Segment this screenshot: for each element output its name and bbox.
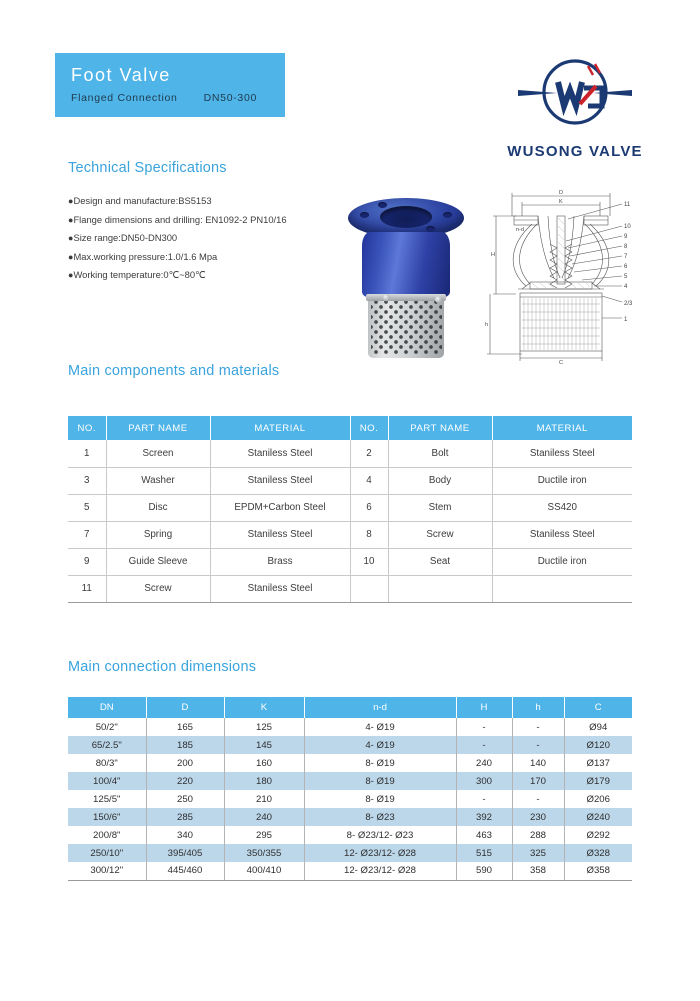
dim-label-h: h: [485, 322, 488, 328]
table-row: 1 Screen Staniless Steel 2 Bolt Staniles…: [68, 440, 632, 467]
cell-k: 400/410: [224, 862, 304, 880]
cell-d: 395/405: [146, 844, 224, 862]
cell-material-2: Staniless Steel: [492, 440, 632, 467]
valve-strainer-screen: [368, 294, 444, 358]
cell-material: Staniless Steel: [210, 440, 350, 467]
column-header-d: D: [146, 697, 224, 718]
cell-no: 11: [68, 575, 106, 602]
callout-1: 1: [624, 317, 628, 323]
cell-no: 1: [68, 440, 106, 467]
cell-d: 285: [146, 808, 224, 826]
cell-no: 9: [68, 548, 106, 575]
wusong-logo-icon: [500, 48, 650, 136]
valve-bore: [380, 206, 432, 228]
cell-h: 300: [456, 772, 512, 790]
cell-d: 250: [146, 790, 224, 808]
cell-h: -: [456, 736, 512, 754]
company-logo: WUSONG VALVE: [500, 48, 650, 160]
cell-n-d: 8- Ø19: [304, 754, 456, 772]
cell-k: 295: [224, 826, 304, 844]
cell-k: 180: [224, 772, 304, 790]
table-row: 300/12" 445/460 400/410 12- Ø23/12- Ø28 …: [68, 862, 632, 880]
cell-part-name: Screw: [106, 575, 210, 602]
cell-dn: 150/6": [68, 808, 146, 826]
section-hatch: [532, 218, 590, 288]
column-header-material: MATERIAL: [210, 416, 350, 440]
cell-part-name: Washer: [106, 467, 210, 494]
column-header-dn: DN: [68, 697, 146, 718]
cell-material-2: [492, 575, 632, 602]
cell-h: -: [456, 790, 512, 808]
flange-bolt-hole: [360, 212, 369, 218]
column-header-no-2: NO.: [350, 416, 388, 440]
cell-h: 590: [456, 862, 512, 880]
components-materials-table: NO. PART NAME MATERIAL NO. PART NAME MAT…: [68, 416, 632, 603]
cell-dn: 80/3": [68, 754, 146, 772]
cell-part-name: Guide Sleeve: [106, 548, 210, 575]
cell-h: 392: [456, 808, 512, 826]
table-row: 7 Spring Staniless Steel 8 Screw Stanile…: [68, 521, 632, 548]
section-heading-technical: Technical Specifications: [68, 160, 227, 176]
connection-dimensions-table: DN D K n-d H h C 50/2" 165 125 4- Ø19 - …: [68, 697, 632, 881]
callout-6: 6: [624, 264, 628, 270]
components-table-body: 1 Screen Staniless Steel 2 Bolt Staniles…: [68, 440, 632, 602]
spec-item: ●Flange dimensions and drilling: EN1092-…: [68, 211, 287, 230]
cell-dn: 250/10": [68, 844, 146, 862]
dim-label-C: C: [559, 360, 563, 366]
technical-specs-list: ●Design and manufacture:BS5153 ●Flange d…: [68, 192, 287, 285]
spec-item: ●Max.working pressure:1.0/1.6 Mpa: [68, 248, 287, 267]
cell-h: 240: [456, 754, 512, 772]
dim-label-n-d: n-d: [516, 227, 524, 233]
cell-k: 350/355: [224, 844, 304, 862]
perforation-pattern: [371, 297, 442, 354]
product-photo: [336, 190, 476, 370]
cell-h-lower: -: [512, 790, 564, 808]
cell-k: 210: [224, 790, 304, 808]
spec-item: ●Design and manufacture:BS5153: [68, 192, 287, 211]
cell-part-name: Screen: [106, 440, 210, 467]
cell-dn: 200/8": [68, 826, 146, 844]
cell-no: 5: [68, 494, 106, 521]
cell-k: 240: [224, 808, 304, 826]
cell-k: 160: [224, 754, 304, 772]
cell-dn: 125/5": [68, 790, 146, 808]
column-header-h-lower: h: [512, 697, 564, 718]
cell-c: Ø292: [564, 826, 632, 844]
callout-8: 8: [624, 244, 628, 250]
dim-label-D: D: [559, 190, 563, 196]
company-name: WUSONG VALVE: [500, 143, 650, 160]
table-row: 11 Screw Staniless Steel: [68, 575, 632, 602]
spec-text: Working temperature:0℃~80℃: [73, 269, 205, 280]
cell-material: Staniless Steel: [210, 575, 350, 602]
cell-h-lower: 140: [512, 754, 564, 772]
cell-dn: 65/2.5": [68, 736, 146, 754]
callout-11: 11: [624, 202, 631, 208]
flange-bolt-hole: [443, 212, 452, 218]
cell-part-name-2: Seat: [388, 548, 492, 575]
cell-k: 125: [224, 718, 304, 736]
cell-h-lower: -: [512, 736, 564, 754]
dim-label-H: H: [491, 252, 495, 258]
cell-no-2: 10: [350, 548, 388, 575]
callout-2-3: 2/3: [624, 301, 633, 307]
cell-c: Ø358: [564, 862, 632, 880]
cell-dn: 50/2": [68, 718, 146, 736]
column-header-n-d: n-d: [304, 697, 456, 718]
cell-part-name-2: Body: [388, 467, 492, 494]
cell-c: Ø120: [564, 736, 632, 754]
callout-5: 5: [624, 274, 628, 280]
cell-c: Ø94: [564, 718, 632, 736]
cell-no: 3: [68, 467, 106, 494]
cell-n-d: 8- Ø19: [304, 772, 456, 790]
cell-material-2: SS420: [492, 494, 632, 521]
cell-material-2: Ductile iron: [492, 548, 632, 575]
cell-no-2: [350, 575, 388, 602]
cell-material: Staniless Steel: [210, 467, 350, 494]
drawing-callout-labels: 11 10 9 8 7 6 5 4 2/3 1: [624, 202, 633, 323]
cell-n-d: 8- Ø19: [304, 790, 456, 808]
cell-part-name-2: Bolt: [388, 440, 492, 467]
column-header-c: C: [564, 697, 632, 718]
cell-no: 7: [68, 521, 106, 548]
product-title: Foot Valve: [71, 63, 285, 87]
column-header-no: NO.: [68, 416, 106, 440]
cell-n-d: 4- Ø19: [304, 736, 456, 754]
cell-material: Staniless Steel: [210, 521, 350, 548]
dimensions-table-body: 50/2" 165 125 4- Ø19 - - Ø94 65/2.5" 185…: [68, 718, 632, 880]
cell-c: Ø179: [564, 772, 632, 790]
table-row: 65/2.5" 185 145 4- Ø19 - - Ø120: [68, 736, 632, 754]
cell-no-2: 2: [350, 440, 388, 467]
cell-c: Ø206: [564, 790, 632, 808]
cell-no-2: 4: [350, 467, 388, 494]
screen-mesh-hatch: [522, 298, 600, 350]
table-row: 150/6" 285 240 8- Ø23 392 230 Ø240: [68, 808, 632, 826]
cell-h-lower: 288: [512, 826, 564, 844]
cell-dn: 300/12": [68, 862, 146, 880]
spec-text: Size range:DN50-DN300: [73, 232, 177, 243]
datasheet-page: Foot Valve Flanged Connection DN50-300 W…: [0, 0, 700, 1001]
cell-h-lower: 358: [512, 862, 564, 880]
cell-h: 463: [456, 826, 512, 844]
section-heading-dimensions: Main connection dimensions: [68, 659, 256, 675]
table-row: 80/3" 200 160 8- Ø19 240 140 Ø137: [68, 754, 632, 772]
callout-9: 9: [624, 234, 628, 240]
callout-4: 4: [624, 284, 628, 290]
cell-d: 200: [146, 754, 224, 772]
table-row: 200/8" 340 295 8- Ø23/12- Ø23 463 288 Ø2…: [68, 826, 632, 844]
connection-type: Flanged Connection: [71, 92, 178, 104]
column-header-h: H: [456, 697, 512, 718]
callout-7: 7: [624, 254, 628, 260]
spec-text: Design and manufacture:BS5153: [73, 195, 211, 206]
cell-h-lower: 325: [512, 844, 564, 862]
cell-no-2: 8: [350, 521, 388, 548]
cell-part-name-2: Screw: [388, 521, 492, 548]
cell-part-name: Disc: [106, 494, 210, 521]
cell-n-d: 12- Ø23/12- Ø28: [304, 844, 456, 862]
flange-bolt-hole: [378, 202, 387, 208]
cell-part-name-2: [388, 575, 492, 602]
section-heading-components: Main components and materials: [68, 363, 279, 379]
cell-h-lower: 170: [512, 772, 564, 790]
cell-c: Ø137: [564, 754, 632, 772]
spec-text: Max.working pressure:1.0/1.6 Mpa: [73, 251, 217, 262]
product-banner: Foot Valve Flanged Connection DN50-300: [55, 53, 285, 117]
column-header-part-name: PART NAME: [106, 416, 210, 440]
cell-h-lower: -: [512, 718, 564, 736]
clamp-screw: [435, 296, 442, 303]
column-header-k: K: [224, 697, 304, 718]
table-row: 250/10" 395/405 350/355 12- Ø23/12- Ø28 …: [68, 844, 632, 862]
table-row: 50/2" 165 125 4- Ø19 - - Ø94: [68, 718, 632, 736]
cell-c: Ø328: [564, 844, 632, 862]
dim-label-K: K: [559, 199, 563, 205]
cell-n-d: 4- Ø19: [304, 718, 456, 736]
cell-material: Brass: [210, 548, 350, 575]
cell-k: 145: [224, 736, 304, 754]
cell-h-lower: 230: [512, 808, 564, 826]
size-range-label: DN50-300: [204, 92, 257, 104]
cell-n-d: 12- Ø23/12- Ø28: [304, 862, 456, 880]
product-subtitle: Flanged Connection DN50-300: [71, 92, 285, 104]
column-header-material-2: MATERIAL: [492, 416, 632, 440]
cell-c: Ø240: [564, 808, 632, 826]
spec-text: Flange dimensions and drilling: EN1092-2…: [73, 214, 286, 225]
cell-d: 445/460: [146, 862, 224, 880]
cell-material-2: Ductile iron: [492, 467, 632, 494]
table-row: 100/4" 220 180 8- Ø19 300 170 Ø179: [68, 772, 632, 790]
clamp-screw: [383, 294, 390, 301]
column-header-part-name-2: PART NAME: [388, 416, 492, 440]
technical-cross-section-drawing: 11 10 9 8 7 6 5 4 2/3 1 D K H h C n-d: [482, 186, 650, 366]
spec-item: ●Working temperature:0℃~80℃: [68, 266, 287, 285]
cell-n-d: 8- Ø23/12- Ø23: [304, 826, 456, 844]
cell-d: 165: [146, 718, 224, 736]
screen-clamp-band: [366, 294, 446, 301]
table-row: 3 Washer Staniless Steel 4 Body Ductile …: [68, 467, 632, 494]
cell-d: 220: [146, 772, 224, 790]
spec-item: ●Size range:DN50-DN300: [68, 229, 287, 248]
cell-part-name: Spring: [106, 521, 210, 548]
cell-h: 515: [456, 844, 512, 862]
table-row: 9 Guide Sleeve Brass 10 Seat Ductile iro…: [68, 548, 632, 575]
cell-material: EPDM+Carbon Steel: [210, 494, 350, 521]
cell-no-2: 6: [350, 494, 388, 521]
callout-10: 10: [624, 224, 631, 230]
cell-dn: 100/4": [68, 772, 146, 790]
cell-d: 185: [146, 736, 224, 754]
table-header-row: NO. PART NAME MATERIAL NO. PART NAME MAT…: [68, 416, 632, 440]
cell-n-d: 8- Ø23: [304, 808, 456, 826]
cell-part-name-2: Stem: [388, 494, 492, 521]
table-row: 5 Disc EPDM+Carbon Steel 6 Stem SS420: [68, 494, 632, 521]
valve-body: [362, 232, 450, 298]
table-row: 125/5" 250 210 8- Ø19 - - Ø206: [68, 790, 632, 808]
cell-material-2: Staniless Steel: [492, 521, 632, 548]
cell-d: 340: [146, 826, 224, 844]
table-header-row: DN D K n-d H h C: [68, 697, 632, 718]
cell-h: -: [456, 718, 512, 736]
